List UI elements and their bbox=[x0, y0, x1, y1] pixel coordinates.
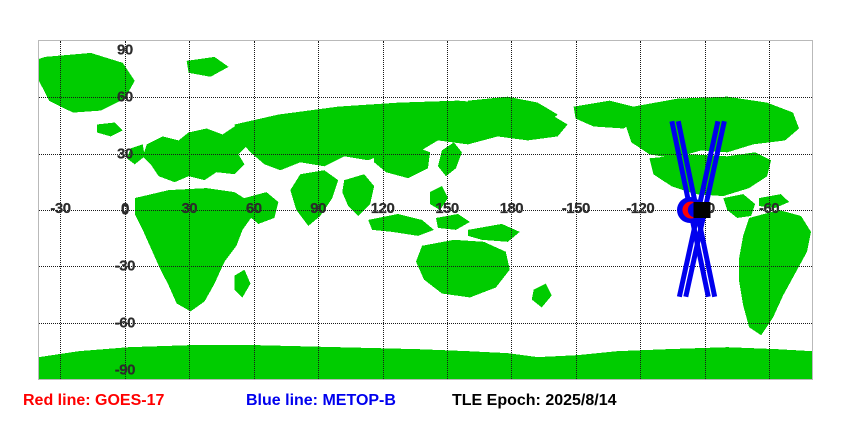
lat-tick-label-60: 60 bbox=[117, 89, 133, 106]
lon-tick-label-120: 120 bbox=[371, 200, 395, 217]
ground-station-marker bbox=[694, 202, 711, 218]
legend-bar: Red line: GOES-17 Blue line: METOP-B TLE… bbox=[0, 392, 850, 422]
legend-tle-epoch: TLE Epoch: 2025/8/14 bbox=[452, 392, 617, 410]
lat-tick-label--90: -90 bbox=[115, 362, 135, 379]
lon-tick-label--30: -30 bbox=[50, 200, 70, 217]
lon-tick-label-30: 30 bbox=[181, 200, 197, 217]
lon-tick-label-90: 90 bbox=[310, 200, 326, 217]
lon-tick-label-60: 60 bbox=[246, 200, 262, 217]
world-map-panel: -300306090120150180-150-120-90-609060300… bbox=[38, 40, 813, 380]
lat-tick-label-0: 0 bbox=[121, 202, 129, 219]
legend-red-line-goes-17: Red line: GOES-17 bbox=[23, 392, 164, 410]
lat-tick-label-90: 90 bbox=[117, 42, 133, 59]
lon-tick-label--60: -60 bbox=[759, 200, 779, 217]
lon-tick-label--150: -150 bbox=[562, 200, 590, 217]
lon-tick-label-150: 150 bbox=[435, 200, 459, 217]
lat-tick-label-30: 30 bbox=[117, 145, 133, 162]
lon-tick-label-180: 180 bbox=[500, 200, 524, 217]
legend-blue-line-metop-b: Blue line: METOP-B bbox=[246, 392, 396, 410]
lat-tick-label--30: -30 bbox=[115, 258, 135, 275]
lat-tick-label--60: -60 bbox=[115, 314, 135, 331]
lon-tick-label--120: -120 bbox=[626, 200, 654, 217]
